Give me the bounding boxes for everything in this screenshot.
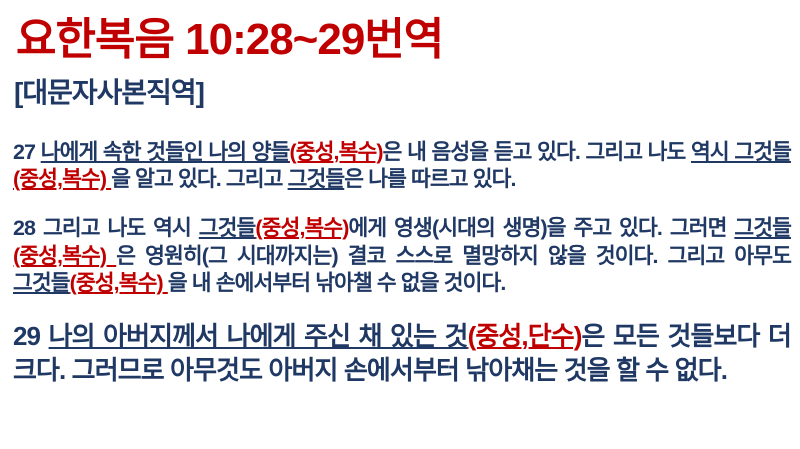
verse-text: 은 내 음성을 듣고 있다. 그리고 나도 xyxy=(383,140,691,164)
verse-text: 은 영원히(그 시대까지는) 결코 스스로 멸망하지 않을 것이다. 그리고 아… xyxy=(116,244,791,268)
verse-text: 역시 그것들 xyxy=(691,140,791,164)
verse-text: 을 내 손에서부터 낚아챌 수 없을 것이다. xyxy=(168,271,506,295)
verse-paragraph-28: 28 그리고 나도 역시 그것들(중성,복수)에게 영생(시대의 생명)을 주고… xyxy=(13,215,791,298)
verse-text: 28 그리고 나도 역시 xyxy=(13,216,199,240)
verse-text: 그것들 xyxy=(734,216,791,240)
verse-text: 나에게 속한 것들인 나의 양들 xyxy=(41,140,290,164)
verse-body: 27 나에게 속한 것들인 나의 양들(중성,복수)은 내 음성을 듣고 있다.… xyxy=(13,117,791,413)
verse-text: 그것들 xyxy=(288,167,345,191)
verse-text: 에게 영생(시대의 생명)을 주고 있다. 그러면 xyxy=(349,216,735,240)
verse-text: 나의 아버지께서 나에게 주신 채 있는 것 xyxy=(49,321,468,351)
grammar-note: (중성,복수) xyxy=(13,167,111,191)
grammar-note: (중성,복수) xyxy=(290,140,383,164)
slide-canvas: 요한복음 10:28~29번역 [대문자사본직역] 27 나에게 속한 것들인 … xyxy=(0,0,800,449)
verse-text: 27 xyxy=(13,140,41,164)
verse-text: 그것들 xyxy=(13,271,70,295)
verse-text: 을 알고 있다. 그리고 xyxy=(111,167,287,191)
grammar-note: (중성,단수) xyxy=(468,321,582,351)
verse-paragraph-27: 27 나에게 속한 것들인 나의 양들(중성,복수)은 내 음성을 듣고 있다.… xyxy=(13,139,791,194)
page-title: 요한복음 10:28~29번역 xyxy=(16,14,443,66)
grammar-note: (중성,복수) xyxy=(13,244,116,268)
verse-paragraph-29: 29 나의 아버지께서 나에게 주신 채 있는 것(중성,단수)은 모든 것들보… xyxy=(13,319,791,387)
verse-text: 그것들 xyxy=(199,216,256,240)
page-subtitle: [대문자사본직역] xyxy=(14,76,204,110)
grammar-note: (중성,복수) xyxy=(70,271,168,295)
grammar-note: (중성,복수) xyxy=(255,216,348,240)
verse-text: 은 나를 따르고 있다. xyxy=(344,167,515,191)
verse-text: 29 xyxy=(13,321,49,351)
